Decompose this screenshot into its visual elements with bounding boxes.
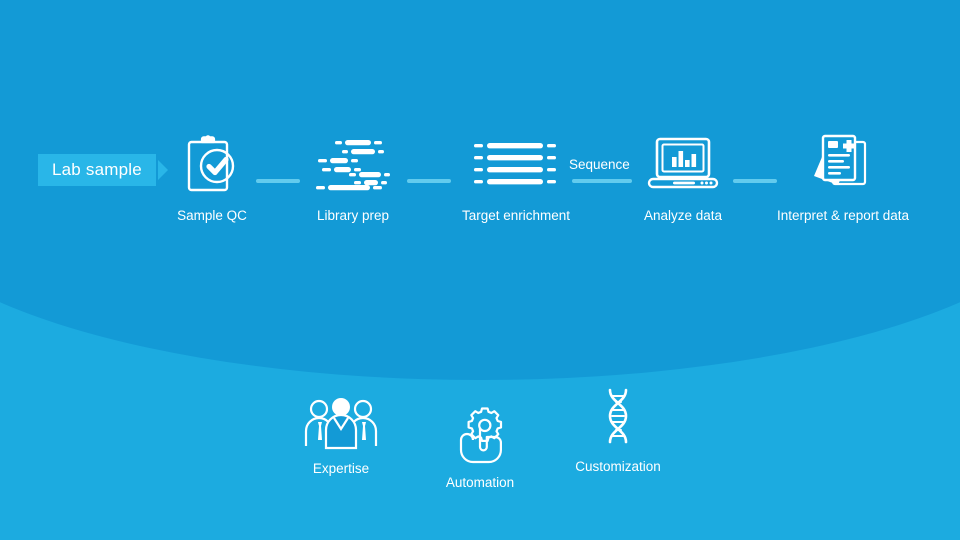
workflow-step-label: Library prep [273,208,433,223]
lab-sample-badge-label: Lab sample [52,160,142,179]
aligned-reads-icon [436,132,596,196]
people-team-icon [266,392,416,450]
report-documents-icon [763,132,923,196]
workflow-step-target-enrichment[interactable]: Target enrichment [436,132,596,223]
dna-helix-icon [543,390,693,448]
feature-customization[interactable]: Customization [543,390,693,474]
workflow-step-analyze-data[interactable]: Analyze data [603,132,763,223]
workflow-step-label: Interpret & report data [763,208,923,223]
dna-fragments-icon [273,132,433,196]
slide-canvas: Lab sample Sequence Sample QC [0,0,960,540]
workflow-step-sample-qc[interactable]: Sample QC [132,132,292,223]
feature-automation[interactable]: Automation [405,406,555,490]
clipboard-check-icon [132,132,292,196]
workflow-step-interpret-report[interactable]: Interpret & report data [763,132,923,223]
hand-gear-icon [405,406,555,464]
workflow-step-library-prep[interactable]: Library prep [273,132,433,223]
workflow-row: Lab sample Sequence Sample QC [0,0,960,300]
workflow-step-label: Analyze data [603,208,763,223]
feature-expertise[interactable]: Expertise [266,392,416,476]
feature-label: Automation [405,475,555,490]
workflow-step-label: Target enrichment [436,208,596,223]
workflow-step-label: Sample QC [132,208,292,223]
feature-label: Expertise [266,461,416,476]
laptop-chart-icon [603,132,763,196]
feature-label: Customization [543,459,693,474]
